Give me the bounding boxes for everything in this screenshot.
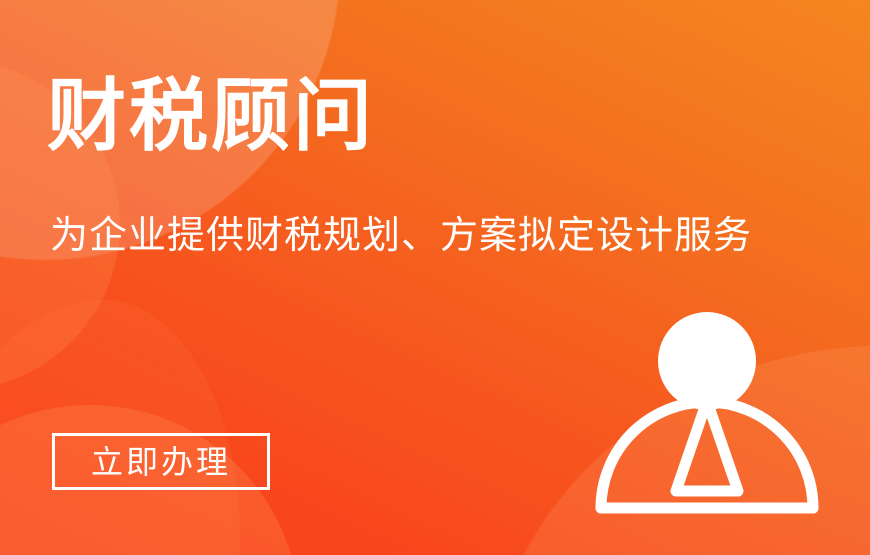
banner-subtitle: 为企业提供财税规划、方案拟定设计服务 xyxy=(50,216,752,254)
person-tie-triangle xyxy=(676,401,738,491)
banner-content: 财税顾问 为企业提供财税规划、方案拟定设计服务 立即办理 xyxy=(0,0,870,555)
promo-banner: 财税顾问 为企业提供财税规划、方案拟定设计服务 立即办理 xyxy=(0,0,870,555)
advisor-person-icon xyxy=(592,305,822,517)
person-head xyxy=(658,312,756,410)
apply-now-button[interactable]: 立即办理 xyxy=(52,433,270,490)
banner-title: 财税顾问 xyxy=(47,77,375,156)
